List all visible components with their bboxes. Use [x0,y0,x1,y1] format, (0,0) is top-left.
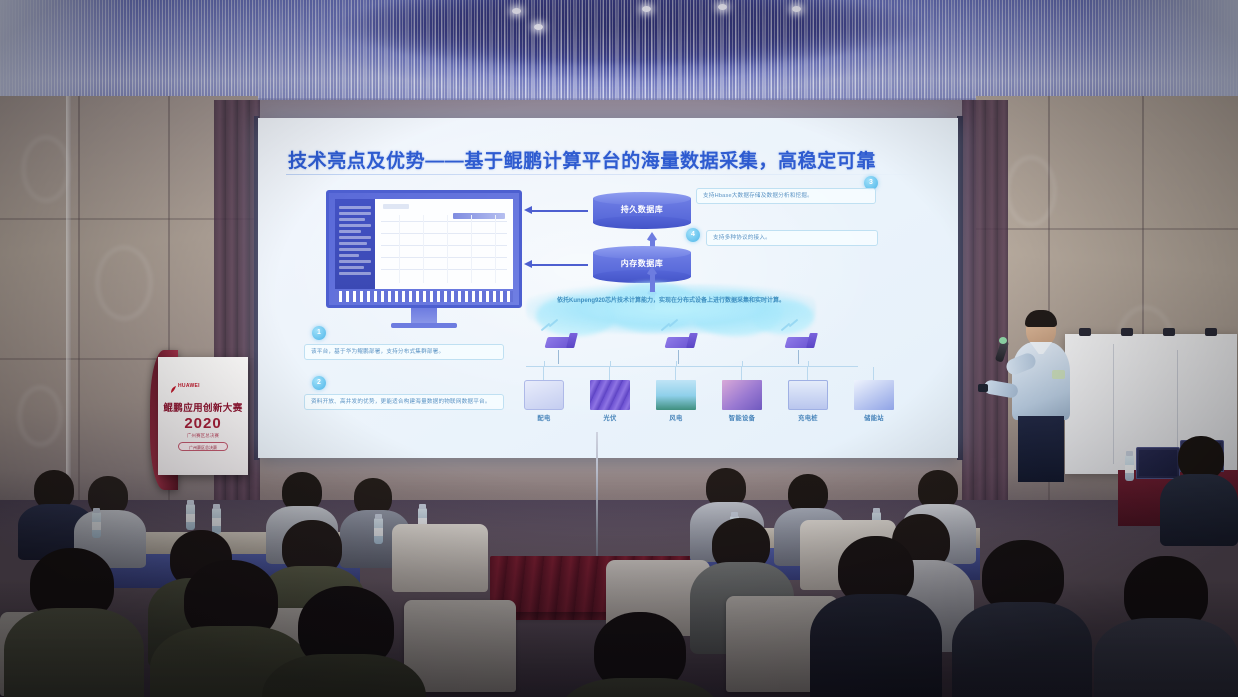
chair-back [392,524,488,592]
banner-subtitle: 广州赛区总决赛 [158,433,248,439]
event-banner: HUAWEI 鲲鹏应用创新大赛 2020 广州赛区总决赛 广州赛区总决赛 [158,357,248,475]
monitor-bezel [326,190,522,308]
database-persistent: 持久数据库 [593,192,691,230]
dashboard-content [375,199,513,289]
presenter-hair [1025,310,1057,327]
gateway-pole [798,350,799,364]
audience-member [952,540,1092,696]
callout-bubble-4: 支持多种协议的接入。 [706,230,878,246]
device-label: 智能设备 [722,413,762,422]
device-solar: 光伏 [590,380,630,422]
bus-tick [676,361,677,366]
device-wind: 风电 [656,380,696,422]
device-stem [741,367,742,380]
device-stem [543,367,544,380]
bus-tick [544,361,545,366]
banner-badge: 广州赛区总决赛 [178,442,228,451]
dashboard-col [471,215,472,283]
banner-brand: HUAWEI [178,383,200,389]
monitor-base [391,323,457,328]
audience-member [1160,436,1238,536]
marble-veining [96,246,152,320]
device-label: 储能站 [854,413,894,422]
kunpeng-cloud: 依托Kunpeng920芯片技术计算能力，实现在分布式设备上进行数据采集和实时计… [526,284,816,334]
device-stem [873,367,874,380]
audience-member [74,476,146,556]
connector-line [530,210,588,212]
dashboard-footer-bar [335,291,513,302]
device-distribution: 配电 [524,380,564,422]
wind-turbine-icon [656,380,696,410]
distribution-box-icon [524,380,564,410]
arrow-left-icon [524,260,532,268]
audience-body [262,654,426,697]
edge-gateway-3 [786,332,820,352]
callout-badge-1: 1 [312,326,326,340]
device-smart-equipment: 智能设备 [722,380,762,422]
device-label: 光伏 [590,413,630,422]
device-label: 风电 [656,413,696,422]
water-bottle [1125,455,1134,481]
edge-gateway-2 [666,332,700,352]
callout-badge-2: 2 [312,376,326,390]
water-bottle [186,504,195,530]
connector-line [530,264,588,266]
callout-badge-4: 4 [686,228,700,242]
dashboard-col [423,215,424,283]
audience-body [1094,618,1238,697]
monitor-screen [335,199,513,289]
dashboard-breadcrumb [383,204,409,209]
monitor-stand [411,308,437,324]
clicker-icon [978,384,988,392]
gateway-pole [558,350,559,364]
audience-body [952,602,1092,697]
gateway-fin [686,333,698,348]
wall-seam [976,228,1238,230]
device-stem [609,367,610,380]
wall-seam [78,96,80,526]
water-bottle [374,518,383,544]
presenter [1000,312,1080,482]
ceiling-light [792,6,801,12]
device-charging-pile: 充电桩 [788,380,828,422]
callout-bubble-3: 支持Hbase大数据存储及数据分析和挖掘。 [696,188,876,204]
whiteboard-clip [1079,328,1091,336]
audience-body [810,594,942,697]
device-bus-line [526,366,858,367]
gateway-fin [566,333,578,348]
marble-veining [1006,156,1056,226]
dashboard-col [447,215,448,283]
ceiling-light [512,8,521,14]
marble-veining [18,386,62,446]
cylinder-bottom [593,270,691,283]
microphone-stand [596,432,598,562]
callout-bubble-1: 该平台，基于华为鲲鹏部署，支持分布式集群部署。 [304,344,504,360]
wall-light-strip [66,96,71,496]
audience-body [1160,474,1238,546]
projection-screen: 技术亮点及优势——基于鲲鹏计算平台的海量数据采集，高稳定可靠 [258,118,958,458]
audience-body [4,608,144,697]
presentation-photo: 技术亮点及优势——基于鲲鹏计算平台的海量数据采集，高稳定可靠 [0,0,1238,697]
audience-member [560,612,720,697]
microphone-foam [999,337,1007,344]
bus-tick [742,361,743,366]
device-energy-storage: 储能站 [854,380,894,422]
gateway-pole [678,350,679,364]
banner-title: 鲲鹏应用创新大赛 [158,400,248,414]
dashboard-badge [453,213,505,219]
gateway-fin [806,333,818,348]
audience-member [1094,556,1238,697]
banner-year: 2020 [158,415,248,432]
callout-bubble-2: 资料开放、高并发的优势，更能适合构建海量数据的物联网数据平台。 [304,394,504,410]
cloud-body [526,284,816,334]
slide-title: 技术亮点及优势——基于鲲鹏计算平台的海量数据采集，高稳定可靠 [288,146,876,173]
arrow-left-icon [524,206,532,214]
dashboard-col [399,215,400,283]
energy-storage-icon [854,380,894,410]
audience-member [4,548,144,697]
bus-tick [808,361,809,366]
audience-body [560,678,720,697]
bus-tick [610,361,611,366]
audience-member [810,536,942,686]
device-label: 配电 [524,413,564,422]
whiteboard-clip [1121,328,1133,336]
dashboard-col [495,215,496,283]
water-bottle [92,512,101,538]
ceiling-light [642,6,651,12]
whiteboard-crease [1113,344,1114,464]
device-stem [675,367,676,380]
presenter-trousers [1018,416,1064,482]
huawei-logo-icon [170,381,178,389]
smart-equipment-icon [722,380,762,410]
dashboard-sidebar [335,199,375,289]
marble-veining [22,136,70,202]
audience-member [262,586,426,697]
edge-gateway-1 [546,332,580,352]
device-stem [807,367,808,380]
dashboard-monitor-graphic [326,190,522,308]
database-label: 内存数据库 [593,258,691,269]
database-inmemory: 内存数据库 [593,246,691,284]
whiteboard-clip [1163,328,1175,336]
solar-panel-icon [590,380,630,410]
presenter-logo-patch [1052,370,1065,379]
device-label: 充电桩 [788,413,828,422]
ceiling-light [718,4,727,10]
title-underline [286,174,926,175]
charging-pile-icon [788,380,828,410]
database-label: 持久数据库 [593,204,691,215]
ceiling-light [534,24,543,30]
cylinder-bottom [593,216,691,229]
whiteboard-clip [1205,328,1217,336]
cloud-text: 依托Kunpeng920芯片技术计算能力，实现在分布式设备上进行数据采集和实时计… [540,296,802,306]
